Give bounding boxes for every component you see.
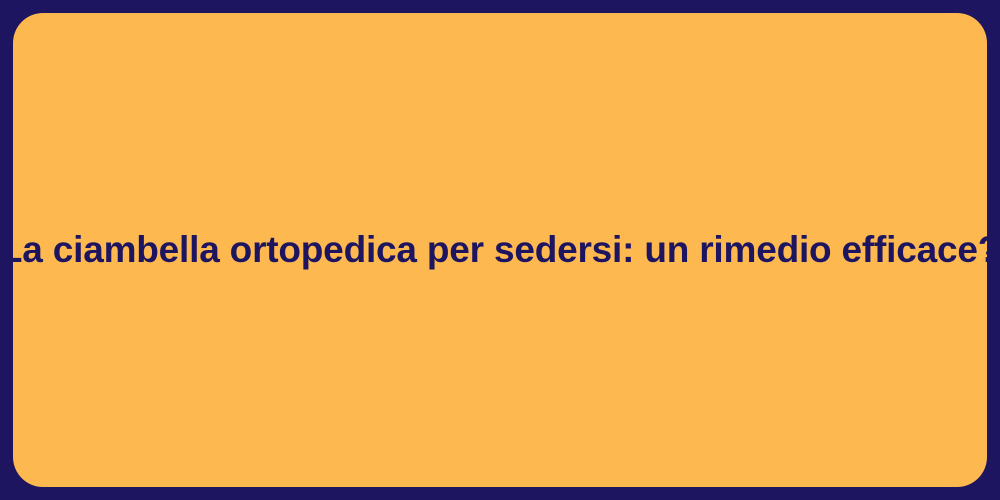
page-title: La ciambella ortopedica per sedersi: un … xyxy=(13,227,987,273)
banner-frame: La ciambella ortopedica per sedersi: un … xyxy=(0,0,1000,500)
banner-panel: La ciambella ortopedica per sedersi: un … xyxy=(13,13,987,487)
